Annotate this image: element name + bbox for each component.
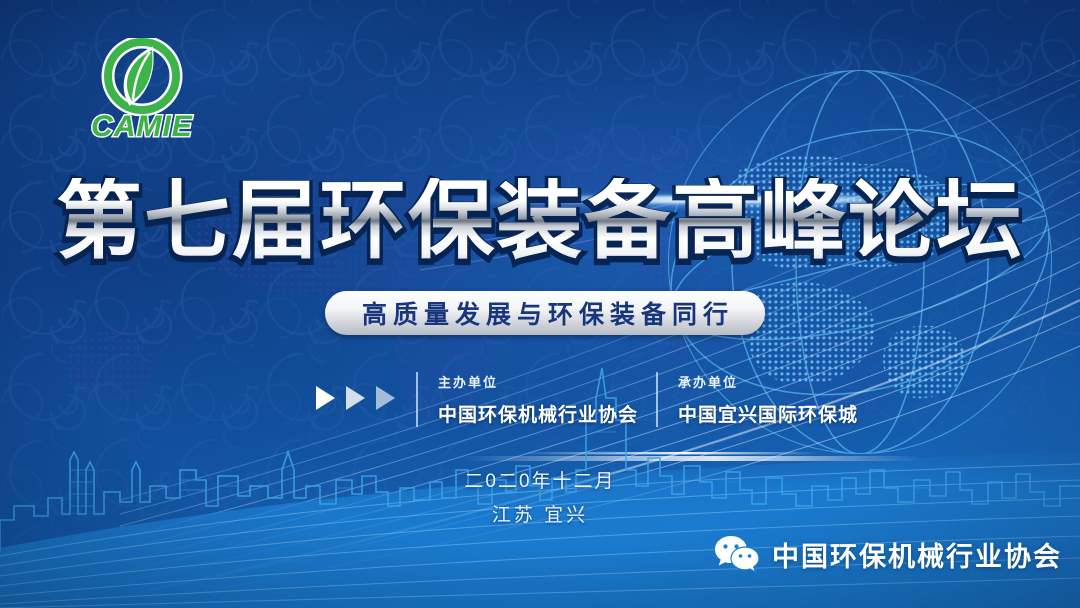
play-triangle-icon xyxy=(316,386,335,410)
leaf-in-circle-icon xyxy=(86,38,198,116)
organizer-host: 主办单位 中国环保机械行业协会 xyxy=(416,372,656,427)
organizer-name: 中国环保机械行业协会 xyxy=(438,400,638,427)
organizer-name: 中国宜兴国际环保城 xyxy=(678,400,858,427)
play-triangle-icon xyxy=(346,386,365,410)
conference-poster: CAMIE CAMIE 第七届环保装备高峰论坛 第七届环保装备高峰论坛 高质量发… xyxy=(0,0,1080,608)
organizer-role-label: 承办单位 xyxy=(678,372,858,391)
organizer-role-label: 主办单位 xyxy=(438,372,638,391)
organizer-coorganizer: 承办单位 中国宜兴国际环保城 xyxy=(656,372,876,427)
camie-wordmark: CAMIE xyxy=(86,110,198,144)
organizer-group: 主办单位 中国环保机械行业协会 承办单位 中国宜兴国际环保城 xyxy=(416,372,876,427)
play-triangle-icon xyxy=(376,386,395,410)
event-info: 二0二0年十二月 江苏 宜兴 xyxy=(0,466,1080,527)
wechat-account-name: 中国环保机械行业协会 xyxy=(772,535,1062,574)
event-date: 二0二0年十二月 xyxy=(0,466,1080,493)
event-location: 江苏 宜兴 xyxy=(0,500,1080,527)
title-text: 第七届环保装备高峰论坛 xyxy=(0,178,1080,264)
wechat-icon xyxy=(714,534,760,574)
arrow-group xyxy=(316,386,395,410)
page-title: 第七届环保装备高峰论坛 第七届环保装备高峰论坛 xyxy=(0,178,1080,264)
subtitle-text: 高质量发展与环保装备同行 xyxy=(356,295,734,331)
camie-logo: CAMIE CAMIE xyxy=(86,38,198,148)
wechat-badge: 中国环保机械行业协会 xyxy=(714,534,1062,574)
subtitle-pill: 高质量发展与环保装备同行 xyxy=(325,291,765,335)
